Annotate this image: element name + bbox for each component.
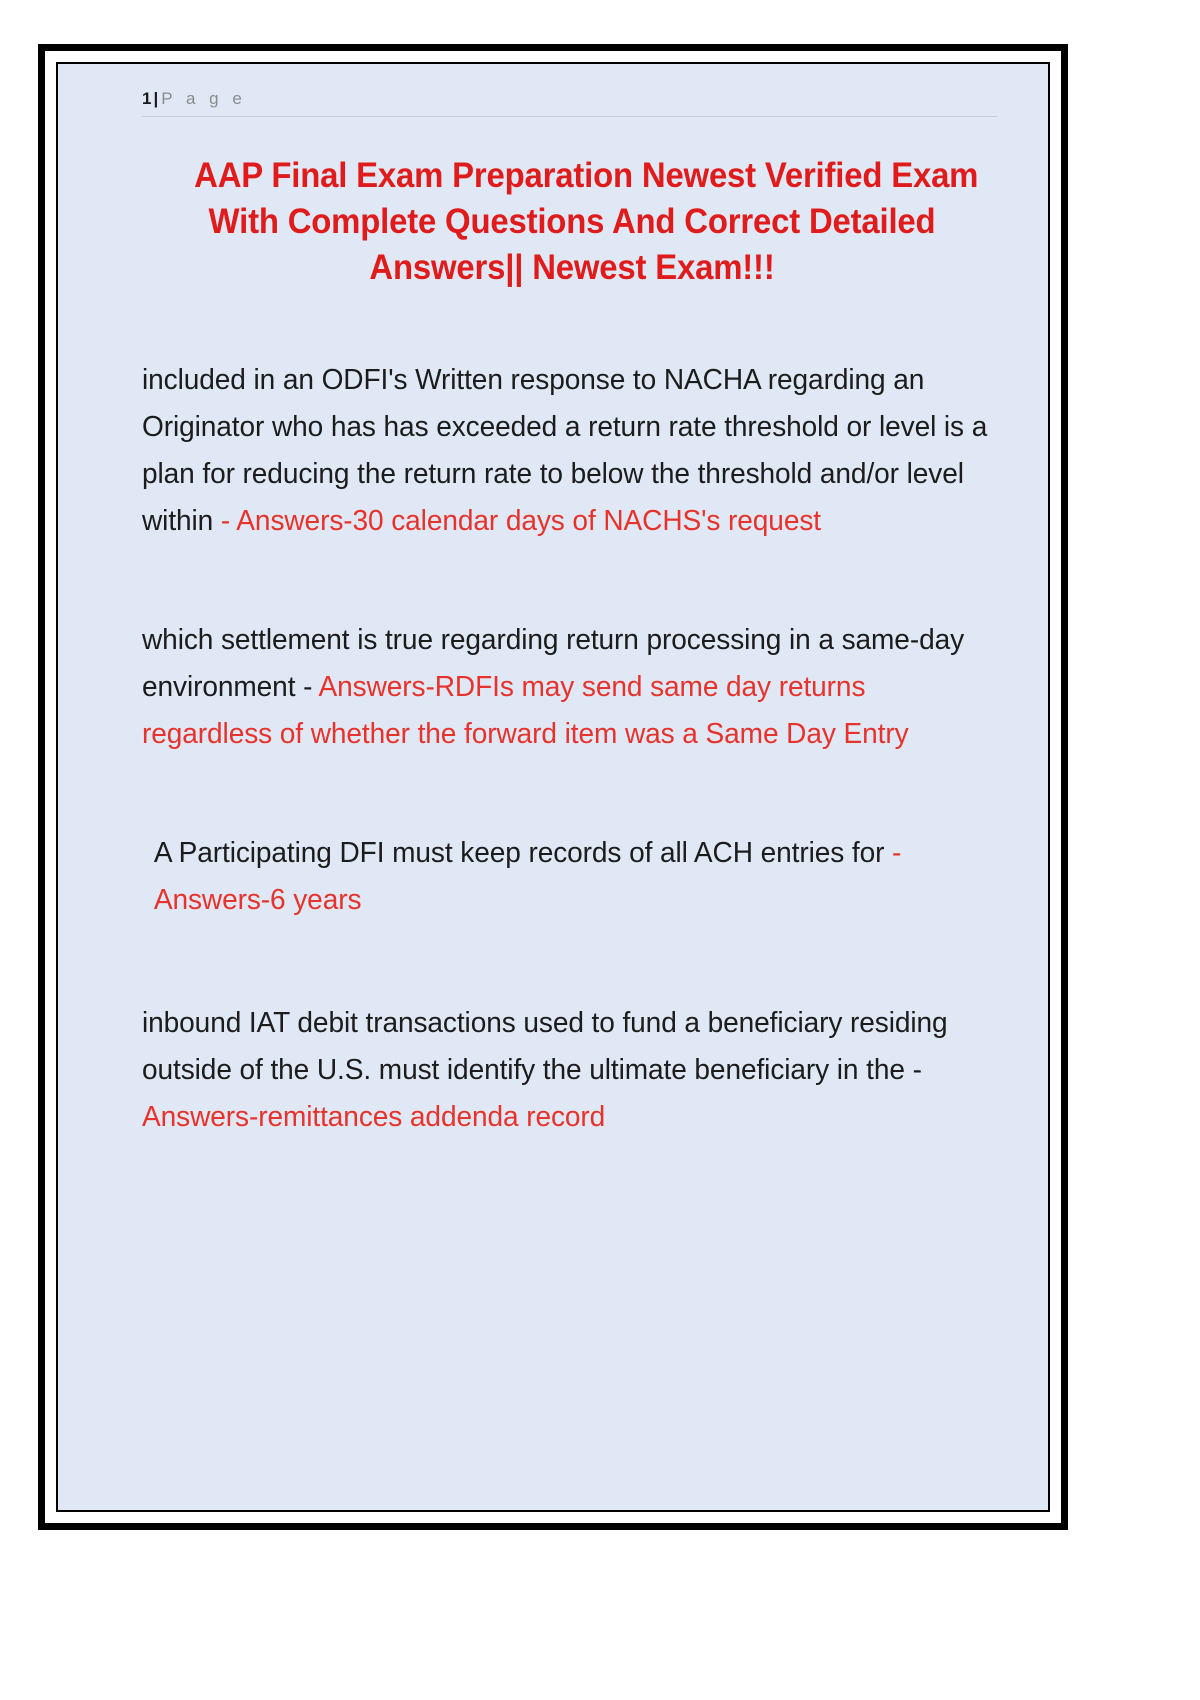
page-outer-frame: 1|P a g e AAP Final Exam Preparation New… [38, 44, 1068, 1530]
title-line-3: Answers|| Newest Exam!!! [194, 245, 950, 291]
qa-dash: - [913, 1054, 922, 1086]
qa-answer: Answers-30 calendar days of NACHS's requ… [236, 505, 821, 537]
page-number-label: 1|P a g e [142, 88, 1002, 110]
qa-block: included in an ODFI's Written response t… [142, 357, 989, 545]
qa-list: included in an ODFI's Written response t… [142, 357, 1002, 1141]
qa-question: inbound IAT debit transactions used to f… [142, 1007, 948, 1086]
qa-block: which settlement is true regarding retur… [142, 617, 989, 758]
title-line-1: AAP Final Exam Preparation Newest Verifi… [194, 153, 950, 199]
qa-block: A Participating DFI must keep records of… [142, 830, 989, 924]
title-line-2: With Complete Questions And Correct Deta… [194, 199, 950, 245]
qa-dash: - [221, 505, 236, 537]
qa-answer: Answers-6 years [154, 884, 362, 916]
qa-dash: - [892, 837, 901, 869]
qa-question: A Participating DFI must keep records of… [154, 837, 892, 869]
qa-block: inbound IAT debit transactions used to f… [142, 1000, 989, 1141]
header-separator: | [151, 89, 161, 108]
page-title: AAP Final Exam Preparation Newest Verifi… [168, 153, 976, 291]
qa-answer: Answers-remittances addenda record [142, 1101, 605, 1133]
page-content: 1|P a g e AAP Final Exam Preparation New… [58, 64, 1048, 1510]
header-divider [142, 116, 998, 117]
header-page-word: P a g e [161, 89, 246, 108]
page-inner-frame: 1|P a g e AAP Final Exam Preparation New… [56, 62, 1050, 1512]
qa-dash: - [303, 671, 318, 703]
running-header: 1|P a g e [142, 88, 1002, 123]
